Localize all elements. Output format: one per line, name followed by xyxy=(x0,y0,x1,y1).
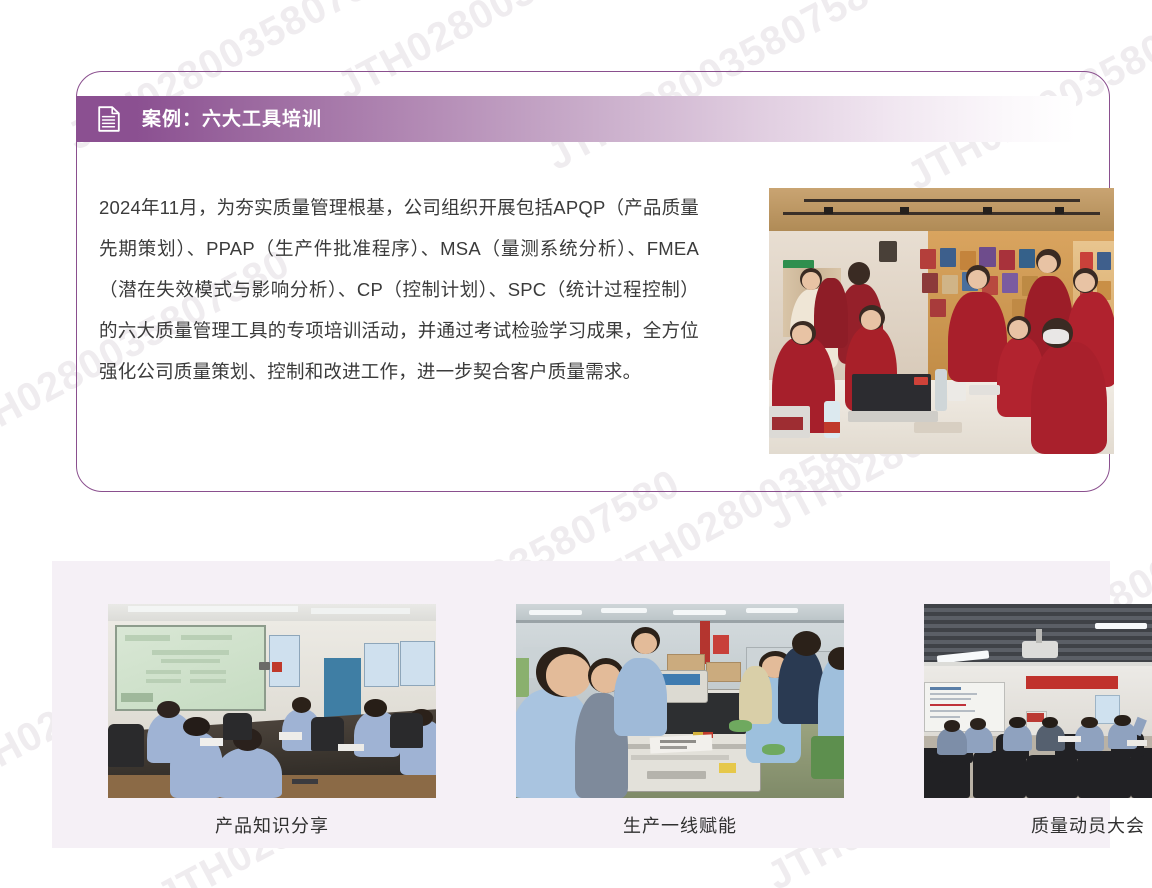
product-knowledge-sharing-photo xyxy=(108,604,436,798)
training-session-photo xyxy=(769,188,1114,454)
quality-mobilization-meeting-photo xyxy=(924,604,1152,798)
gallery-item: 产品知识分享 xyxy=(108,604,436,835)
case-photo-container xyxy=(699,142,1152,493)
gallery-caption: 质量动员大会 xyxy=(924,817,1152,835)
production-line-enablement-photo xyxy=(516,604,844,798)
page-stage: 案例：六大工具培训 2024年11月，为夯实质量管理根基，公司组织开展包括APQ… xyxy=(0,0,1152,888)
gallery-caption: 产品知识分享 xyxy=(108,817,436,835)
case-card-body: 2024年11月，为夯实质量管理根基，公司组织开展包括APQP（产品质量先期策划… xyxy=(77,142,1109,493)
gallery-panel: 产品知识分享 xyxy=(52,561,1110,848)
case-card-description: 2024年11月，为夯实质量管理根基，公司组织开展包括APQP（产品质量先期策划… xyxy=(77,161,699,475)
case-card-banner: 案例：六大工具培训 xyxy=(76,96,1076,142)
gallery-row: 产品知识分享 xyxy=(68,588,1094,851)
case-card: 案例：六大工具培训 2024年11月，为夯实质量管理根基，公司组织开展包括APQ… xyxy=(76,71,1110,492)
case-card-title: 案例：六大工具培训 xyxy=(142,110,322,129)
gallery-caption: 生产一线赋能 xyxy=(516,817,844,835)
gallery-item: 质量动员大会 xyxy=(924,604,1152,835)
gallery-item: 生产一线赋能 xyxy=(516,604,844,835)
document-icon xyxy=(98,106,120,132)
